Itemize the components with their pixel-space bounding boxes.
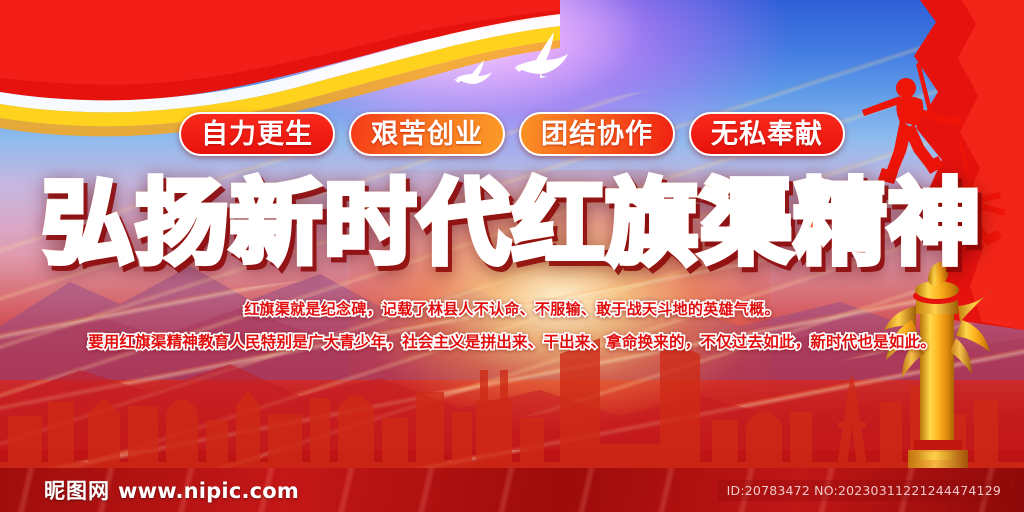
slogan-pill-1[interactable]: 自力更生 [179, 112, 335, 156]
watermark-site-name-cn: 昵图网 [44, 475, 110, 505]
slogan-pill-3[interactable]: 团结协作 [519, 112, 675, 156]
sky-glow-top [220, 0, 640, 123]
poster-canvas: 自力更生 艰苦创业 团结协作 无私奉献 弘扬新时代红旗渠精神 红旗渠就是纪念碑，… [0, 0, 1024, 512]
slogan-pill-row: 自力更生 艰苦创业 团结协作 无私奉献 [0, 112, 1024, 156]
dove-small [452, 52, 496, 86]
asset-id-label: ID:20783472 NO:20230311221244474129 [718, 480, 1010, 501]
slogan-pill-2[interactable]: 艰苦创业 [349, 112, 505, 156]
red-cliff [804, 0, 1024, 330]
city-skyline-silhouette [0, 294, 1024, 474]
watermark-logo: 昵图网 www.nipic.com [44, 475, 299, 505]
watermark-footer-bar: 昵图网 www.nipic.com ID:20783472 NO:2023031… [0, 468, 1024, 512]
poster-subtitle-1: 红旗渠就是纪念碑，记载了林县人不认命、不服输、敢于战天斗地的英雄气概。 [0, 298, 1024, 319]
poster-subtitle-2: 要用红旗渠精神教育人民特别是广大青少年，社会主义是拼出来、干出来、拿命换来的，不… [0, 330, 1024, 352]
dove-large [510, 28, 572, 78]
watermark-site-url: www.nipic.com [118, 479, 299, 503]
poster-main-title: 弘扬新时代红旗渠精神 [0, 178, 1024, 270]
slogan-pill-4[interactable]: 无私奉献 [689, 112, 845, 156]
